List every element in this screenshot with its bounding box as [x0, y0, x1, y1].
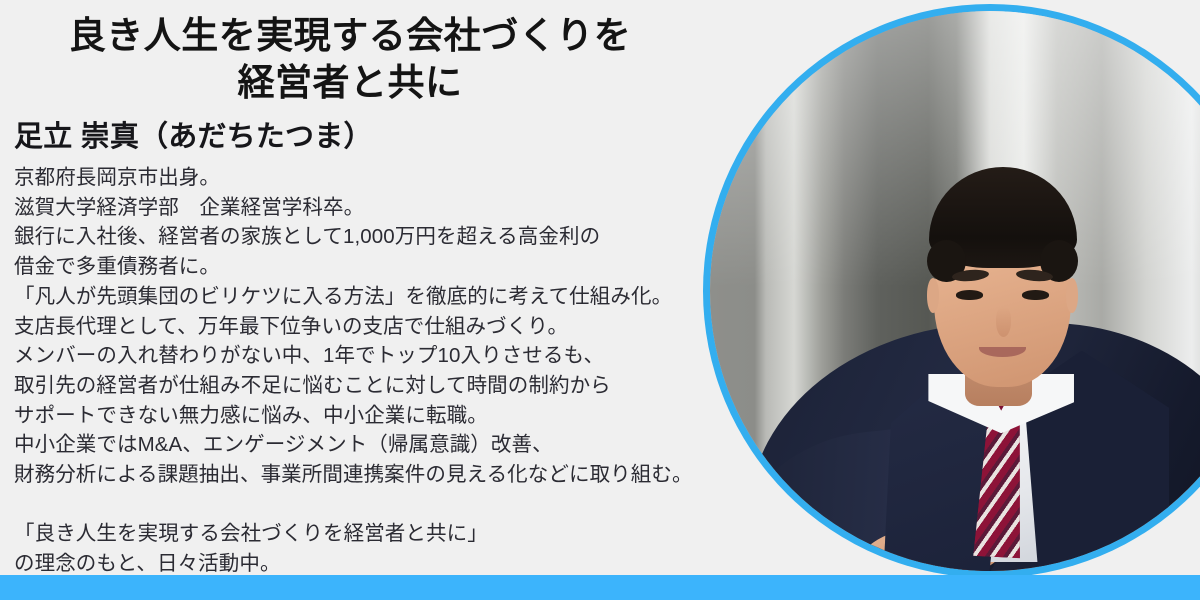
bio-line: メンバーの入れ替わりがない中、1年でトップ10入りさせるも、: [14, 341, 714, 371]
nose: [996, 307, 1011, 337]
head: [934, 185, 1071, 387]
photo-figure: [710, 112, 1200, 571]
bio-line: 京都府長岡京市出身。: [14, 163, 714, 193]
bio-line: サポートできない無力感に悩み、中小企業に転職。: [14, 401, 714, 431]
bio-line: 中小企業ではM&A、エンゲージメント（帰属意識）改善、: [14, 430, 714, 460]
bio-line: 借金で多重債務者に。: [14, 252, 714, 282]
ear-left: [927, 278, 939, 312]
headline: 良き人生を実現する会社づくりを 経営者と共に: [0, 12, 700, 106]
profile-banner: 良き人生を実現する会社づくりを 経営者と共に 足立 崇真（あだちたつま） 京都府…: [0, 0, 1200, 600]
eye-left: [956, 290, 983, 299]
bio-line: 支店長代理として、万年最下位争いの支店で仕組みづくり。: [14, 312, 714, 342]
bio-line: 財務分析による課題抽出、事業所間連携案件の見える化などに取り組む。: [14, 460, 714, 490]
bottom-accent-bar: [0, 575, 1200, 600]
bio-line: 取引先の経営者が仕組み不足に悩むことに対して時間の制約から: [14, 371, 714, 401]
bio-line: 滋賀大学経済学部 企業経営学科卒。: [14, 193, 714, 223]
bio-line: 銀行に入社後、経営者の家族として1,000万円を超える高金利の: [14, 222, 714, 252]
paragraph-spacer: [14, 490, 714, 520]
eye-right: [1022, 290, 1049, 299]
ear-right: [1066, 278, 1078, 312]
bio-line: 「凡人が先頭集団のビリケツに入る方法」を徹底的に考えて仕組み化。: [14, 282, 714, 312]
portrait-ring: [703, 4, 1200, 578]
text-column: 良き人生を実現する会社づくりを 経営者と共に 足立 崇真（あだちたつま） 京都府…: [0, 0, 710, 575]
person-name: 足立 崇真（あだちたつま）: [14, 118, 373, 156]
portrait-photo: [710, 11, 1200, 571]
mouth: [979, 347, 1026, 357]
closing-line: 「良き人生を実現する会社づくりを経営者と共に」: [14, 519, 714, 549]
bio-block: 京都府長岡京市出身。 滋賀大学経済学部 企業経営学科卒。 銀行に入社後、経営者の…: [14, 163, 714, 579]
hair: [929, 167, 1077, 268]
